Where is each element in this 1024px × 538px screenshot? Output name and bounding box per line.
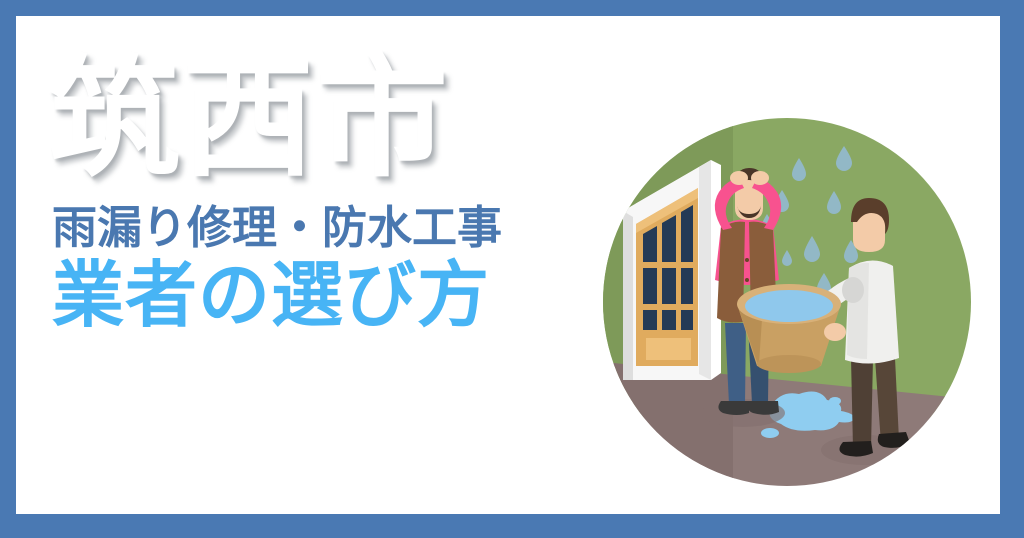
man2-leg-back [851, 358, 873, 448]
door-frame-left-shade [623, 211, 633, 380]
man2-shoulder-shade [842, 277, 864, 303]
man2-shoe-front [878, 432, 910, 448]
man2-shoe-back [839, 441, 873, 457]
floor-shadow-band [603, 362, 733, 486]
man2-shirt-shade [847, 263, 869, 359]
door-pane [681, 205, 693, 262]
door-pane [681, 268, 693, 304]
headline-block: 筑西市 雨漏り修理・防水工事 業者の選び方 [42, 52, 622, 336]
door-pane [681, 310, 693, 330]
puddle-splash-lower [761, 428, 779, 438]
puddle-splash-small [829, 397, 841, 405]
door-lower-panel [646, 338, 691, 360]
man1-shoe-right [748, 401, 779, 415]
door-pane [643, 310, 657, 330]
bucket-bottom [757, 355, 821, 373]
man1-vest-button [745, 258, 749, 262]
man2-hand-back [824, 323, 846, 341]
tagline: 業者の選び方 [42, 257, 622, 336]
door-group [623, 160, 721, 380]
rain-leak-illustration [603, 118, 971, 486]
door-pane [662, 268, 676, 304]
man1-shoe-left [718, 401, 749, 415]
page-title: 筑西市 [42, 52, 622, 187]
man1-hand-right [751, 171, 769, 185]
bucket-water [745, 290, 833, 322]
banner-card: 筑西市 雨漏り修理・防水工事 業者の選び方 [16, 16, 1000, 514]
door-frame-right-shade [699, 160, 711, 380]
man1-hand-left [730, 171, 748, 185]
man1-vest-button [745, 278, 749, 282]
door-pane [662, 215, 676, 262]
door-pane [643, 268, 657, 304]
banner-frame: 筑西市 雨漏り修理・防水工事 業者の選び方 [0, 0, 1024, 538]
rain-leak-scene-svg [603, 118, 971, 486]
service-subtitle: 雨漏り修理・防水工事 [42, 203, 622, 253]
door-pane [662, 310, 676, 330]
